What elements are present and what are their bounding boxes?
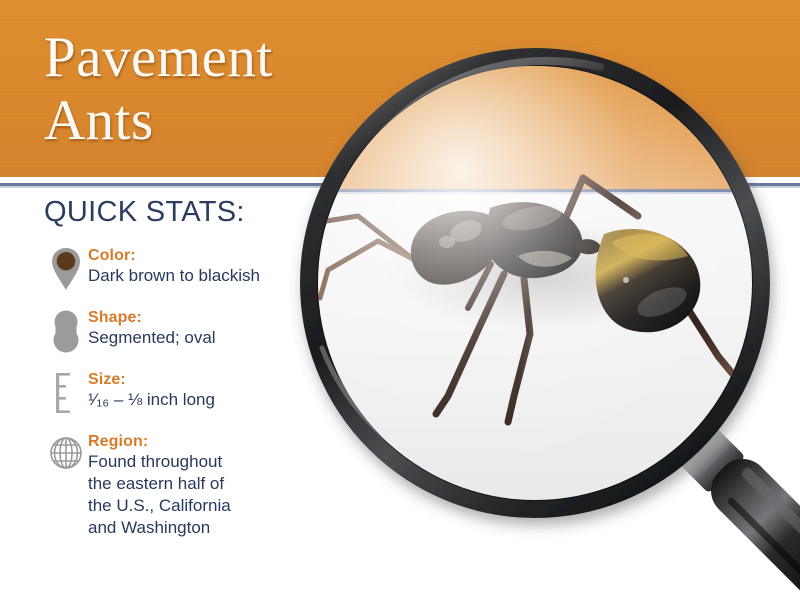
stat-row-size: Size: ¹⁄₁₆ – ⅛ inch long bbox=[44, 369, 312, 415]
stat-value-size: ¹⁄₁₆ – ⅛ inch long bbox=[88, 389, 312, 411]
stat-label-region: Region: bbox=[88, 432, 312, 451]
stat-body-shape: Shape: Segmented; oval bbox=[88, 307, 312, 349]
stat-value-region: Found throughout the eastern half of the… bbox=[88, 451, 312, 539]
map-pin-icon bbox=[44, 245, 88, 291]
stat-label-size: Size: bbox=[88, 370, 312, 389]
peanut-shape-icon bbox=[44, 307, 88, 353]
stat-label-shape: Shape: bbox=[88, 308, 312, 327]
page-title: Pavement Ants bbox=[44, 26, 273, 152]
stat-row-region: Region: Found throughout the eastern hal… bbox=[44, 431, 312, 539]
stat-value-color: Dark brown to blackish bbox=[88, 265, 312, 287]
ruler-icon bbox=[44, 369, 88, 415]
quick-stats-heading: QUICK STATS: bbox=[44, 196, 312, 229]
pest-profile-poster: Pavement Ants bbox=[0, 0, 800, 600]
magnifier-lens bbox=[318, 66, 752, 500]
stat-body-color: Color: Dark brown to blackish bbox=[88, 245, 312, 287]
stat-value-shape: Segmented; oval bbox=[88, 327, 312, 349]
globe-icon bbox=[44, 431, 88, 477]
stat-row-color: Color: Dark brown to blackish bbox=[44, 245, 312, 291]
stat-body-region: Region: Found throughout the eastern hal… bbox=[88, 431, 312, 539]
stat-body-size: Size: ¹⁄₁₆ – ⅛ inch long bbox=[88, 369, 312, 411]
quick-stats-panel: QUICK STATS: Color: Dark brown to blacki… bbox=[44, 196, 312, 555]
stat-row-shape: Shape: Segmented; oval bbox=[44, 307, 312, 353]
stat-label-color: Color: bbox=[88, 246, 312, 265]
